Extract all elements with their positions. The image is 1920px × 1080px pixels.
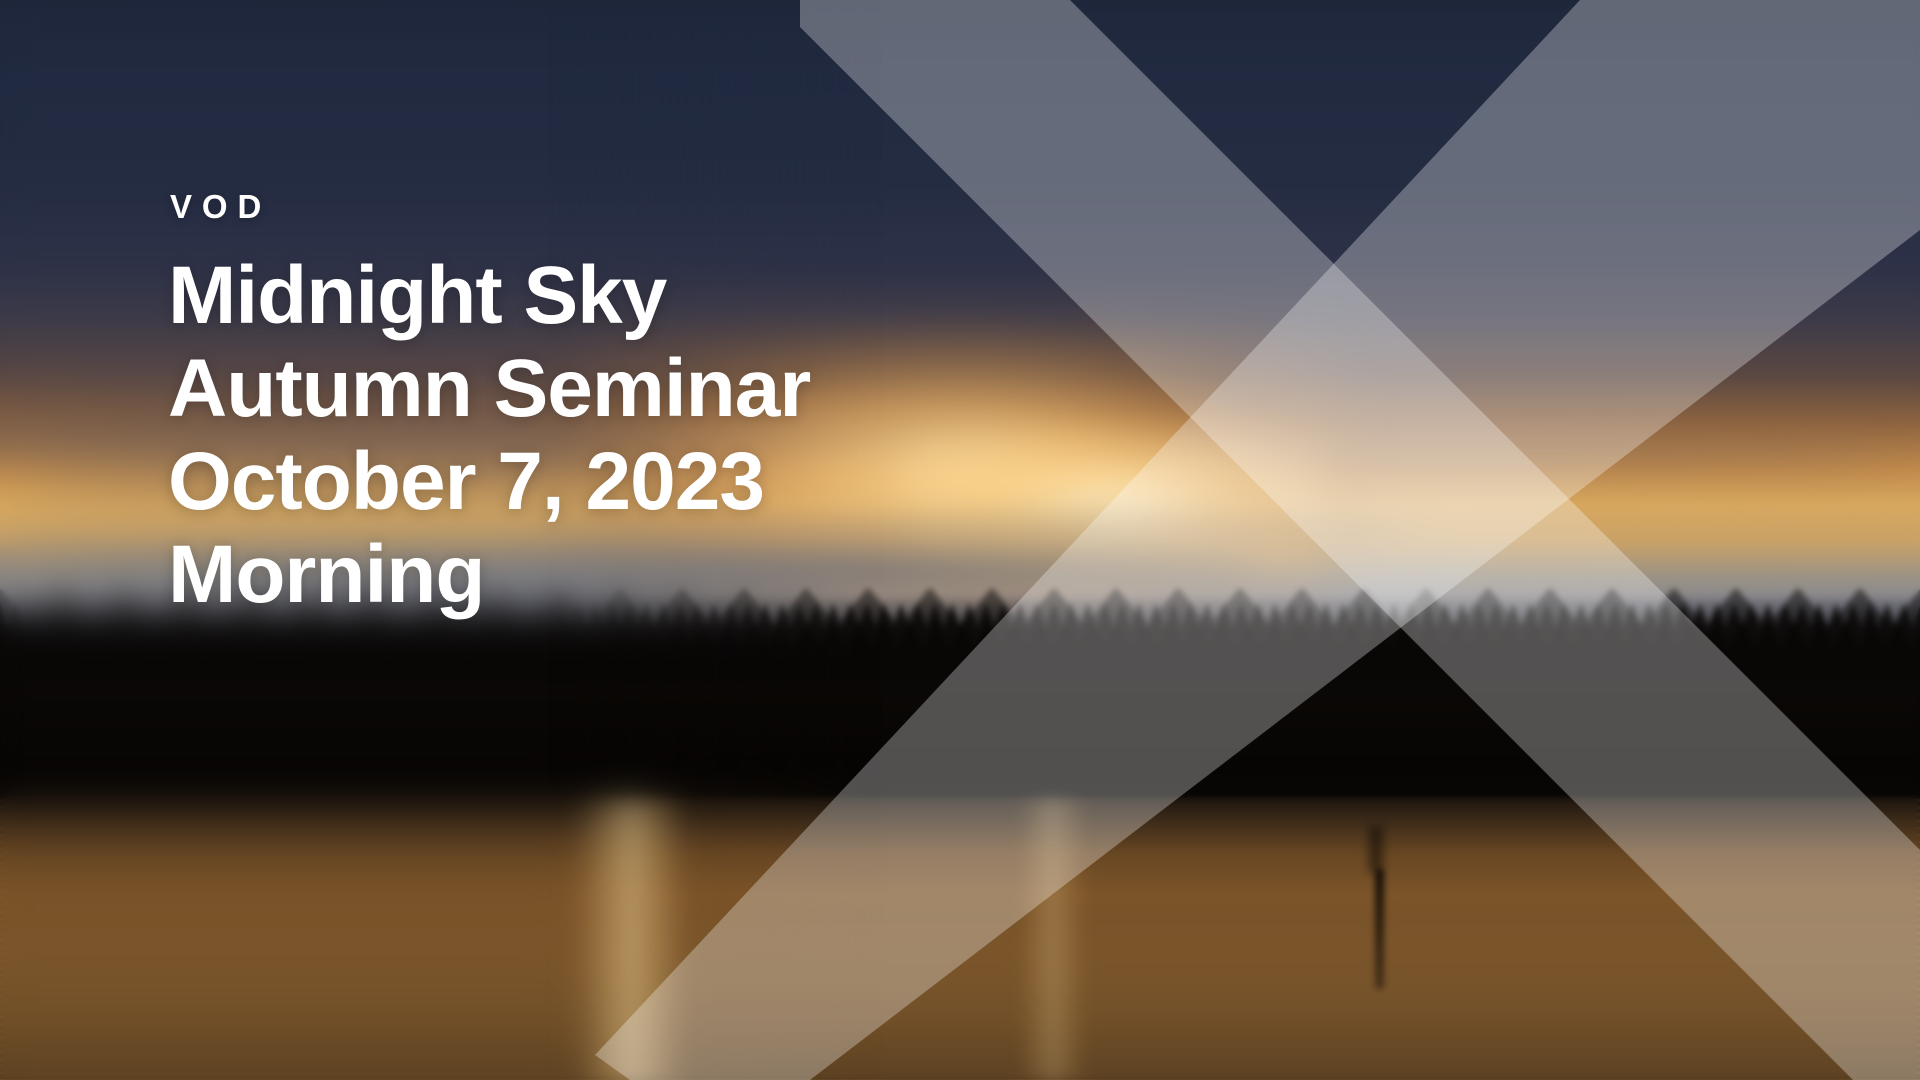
treeline-spikes xyxy=(0,621,1920,681)
eyebrow-label: VOD xyxy=(170,190,1168,223)
water-surface xyxy=(0,799,1920,1080)
water-ripples xyxy=(0,799,1920,1080)
post-reflection xyxy=(1369,826,1383,872)
slide-text-block: VOD Midnight Sky Autumn Seminar October … xyxy=(168,190,1168,621)
headline-line-title: Midnight Sky xyxy=(168,249,1168,342)
post-silhouette xyxy=(1375,869,1384,989)
headline-line-date: October 7, 2023 xyxy=(168,435,1168,528)
headline-line-subtitle: Autumn Seminar xyxy=(168,342,1168,435)
page-title: Midnight Sky Autumn Seminar October 7, 2… xyxy=(168,249,1168,621)
slide-canvas: VOD Midnight Sky Autumn Seminar October … xyxy=(0,0,1920,1080)
headline-line-session: Morning xyxy=(168,528,1168,621)
